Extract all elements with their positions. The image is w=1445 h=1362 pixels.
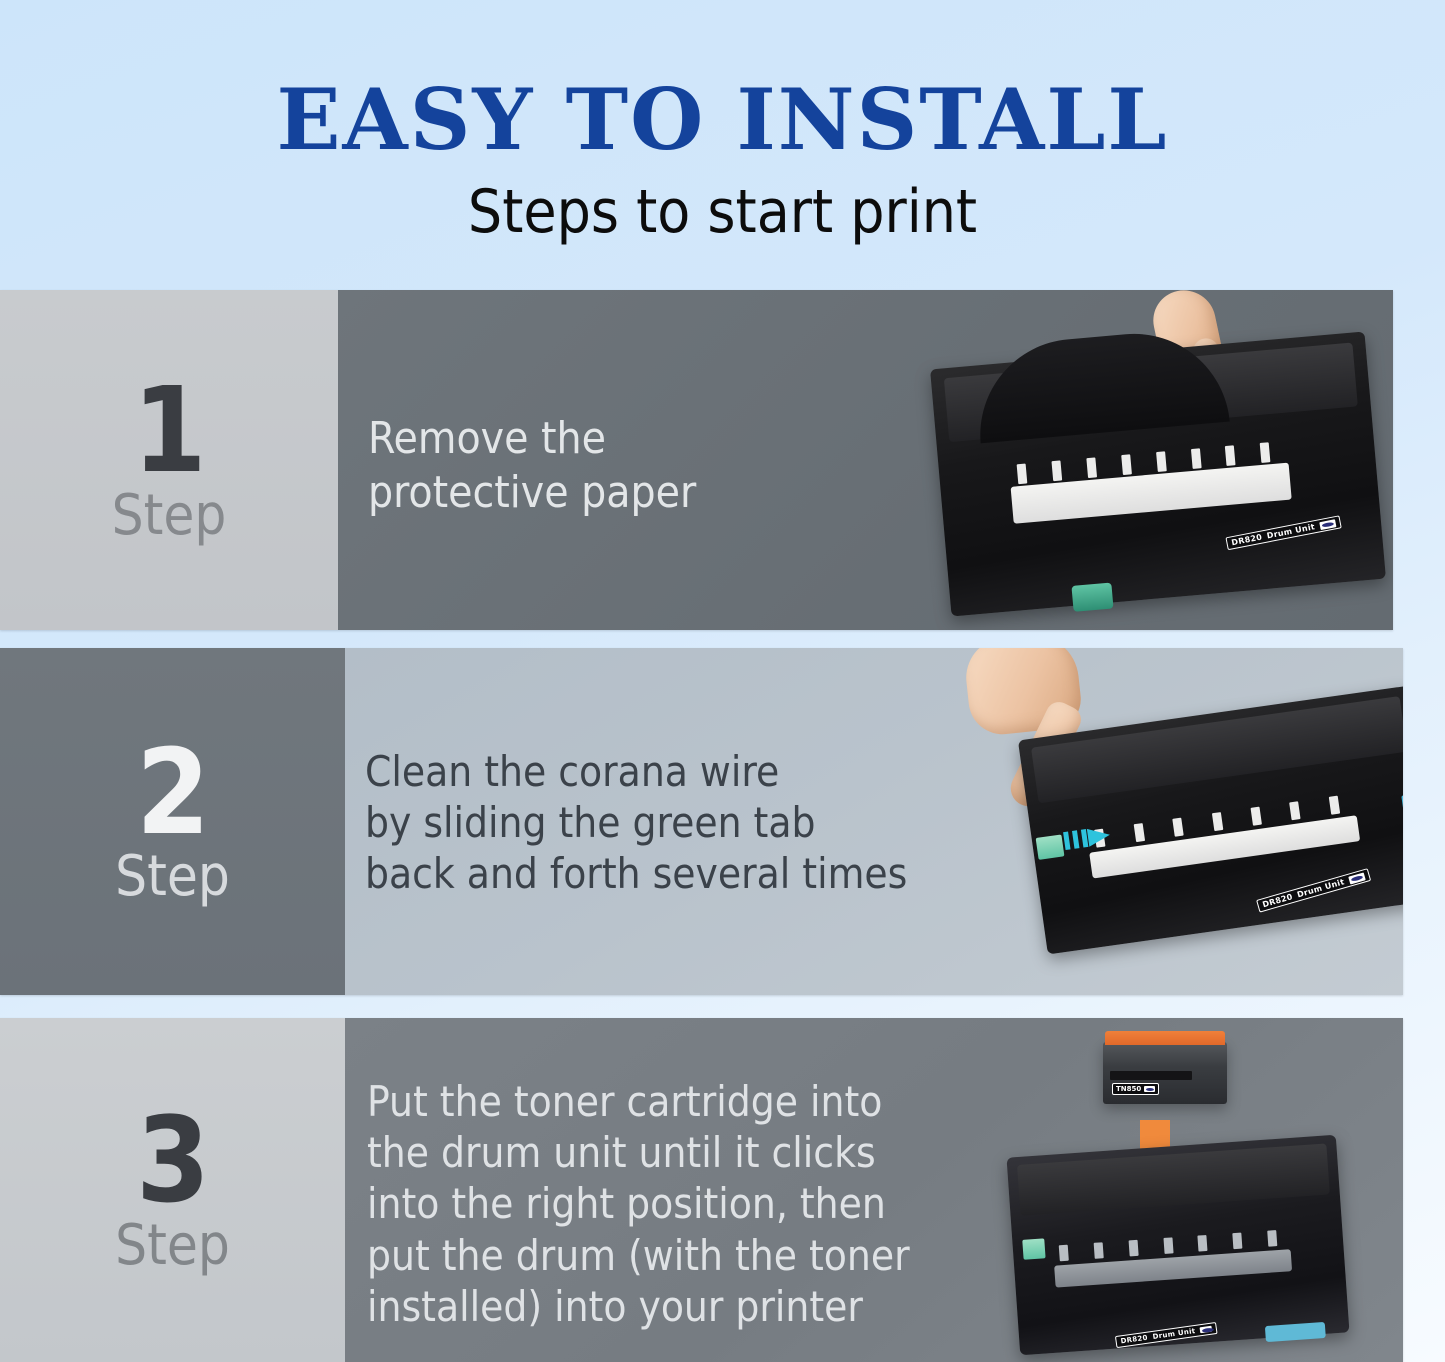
step-1-number-panel: 1 Step	[0, 290, 338, 630]
drum-unit-body: DR820 Drum Unit	[930, 331, 1386, 616]
drum-unit-label: DR820 Drum Unit	[1226, 515, 1342, 550]
drum-label-model: DR820	[1231, 533, 1263, 548]
drum-label-model: DR820	[1120, 1334, 1148, 1346]
step-1-number: 1	[133, 376, 206, 485]
drum-tooth	[1212, 812, 1223, 831]
drum-unit-label: DR820 Drum Unit	[1256, 868, 1371, 912]
drum-tooth	[1163, 1237, 1173, 1254]
step-2-number-panel: 2 Step	[0, 648, 345, 995]
drum-label-type: Drum Unit	[1152, 1327, 1196, 1341]
step-3-number-panel: 3 Step	[0, 1018, 345, 1362]
step-2-product-image: DR820 Drum Unit	[953, 648, 1403, 995]
toner-orange-cap	[1105, 1031, 1224, 1045]
step-2-caption: Clean the corana wire by sliding the gre…	[365, 746, 907, 900]
drum-unit-label: DR820 Drum Unit	[1115, 1322, 1218, 1348]
drum-tooth	[1198, 1235, 1208, 1252]
slider-motion-lines-icon	[1063, 829, 1088, 850]
drum-tooth	[1133, 823, 1144, 842]
step-1-content-panel: Remove the protective paper	[338, 290, 1393, 630]
drum-tooth	[1290, 802, 1301, 821]
drum-label-type: Drum Unit	[1296, 877, 1345, 899]
page-subtitle: Steps to start print	[0, 182, 1445, 242]
step-3-caption: Put the toner cartridge into the drum un…	[367, 1076, 910, 1332]
toner-cartridge: TN850	[1103, 1042, 1227, 1104]
toner-label: TN850	[1112, 1083, 1159, 1095]
green-slider-tab	[1022, 1238, 1045, 1259]
step-2-content-panel: Clean the corana wire by sliding the gre…	[345, 648, 1403, 995]
header: EASY TO INSTALL Steps to start print	[0, 0, 1445, 282]
drum-tooth	[1094, 1242, 1104, 1259]
step-row-1: 1 Step Remove the protective paper	[0, 290, 1393, 630]
brand-logo-icon	[1319, 519, 1336, 530]
step-3-product-image: TN850	[975, 1024, 1403, 1356]
step-row-2: 2 Step Clean the corana wire by sliding …	[0, 648, 1403, 995]
drum-tooth	[1121, 454, 1132, 475]
drum-tooth	[1059, 1245, 1069, 1262]
step-3-content-panel: Put the toner cartridge into the drum un…	[345, 1018, 1403, 1362]
page-title: EASY TO INSTALL	[0, 78, 1445, 162]
drum-tooth	[1128, 1240, 1138, 1257]
slider-direction-arrow-icon	[1087, 826, 1111, 847]
step-row-3: 3 Step Put the toner cartridge into the …	[0, 1018, 1403, 1362]
drum-top-cover	[1031, 696, 1403, 803]
drum-green-handle	[1072, 582, 1114, 611]
drum-tooth	[1017, 463, 1028, 484]
step-2-number: 2	[136, 738, 209, 847]
step-3-number: 3	[136, 1106, 209, 1215]
green-slider-tab	[1036, 835, 1065, 860]
drum-label-model: DR820	[1262, 892, 1294, 909]
drum-tooth	[1251, 807, 1262, 826]
step-1-product-image: DR820 Drum Unit	[928, 294, 1388, 624]
drum-top-cover	[1017, 1143, 1330, 1216]
toner-label-model: TN850	[1116, 1085, 1141, 1093]
drum-cyan-knob	[1265, 1322, 1326, 1342]
step-3-label: Step	[115, 1217, 230, 1274]
drum-tooth	[1052, 460, 1063, 481]
drum-tooth	[1173, 818, 1184, 837]
drum-tooth	[1191, 448, 1202, 469]
brand-logo-icon	[1200, 1326, 1213, 1334]
step-2-label: Step	[115, 848, 230, 905]
infographic-page: EASY TO INSTALL Steps to start print 1 S…	[0, 0, 1445, 1362]
drum-tooth	[1267, 1230, 1277, 1247]
drum-tooth	[1225, 445, 1236, 466]
drum-tooth	[1086, 457, 1097, 478]
brand-logo-icon	[1144, 1086, 1155, 1092]
toner-body-stripe	[1110, 1071, 1192, 1080]
drum-cyan-knob	[1401, 792, 1403, 814]
step-1-label: Step	[112, 487, 227, 544]
drum-tooth	[1260, 442, 1271, 463]
drum-tooth	[1156, 451, 1167, 472]
drum-label-type: Drum Unit	[1266, 522, 1316, 540]
step-1-caption: Remove the protective paper	[368, 412, 696, 519]
drum-tooth	[1232, 1233, 1242, 1250]
drum-tooth	[1329, 796, 1340, 815]
drum-unit-body: DR820 Drum Unit	[1006, 1135, 1349, 1356]
brand-logo-icon	[1348, 872, 1366, 884]
